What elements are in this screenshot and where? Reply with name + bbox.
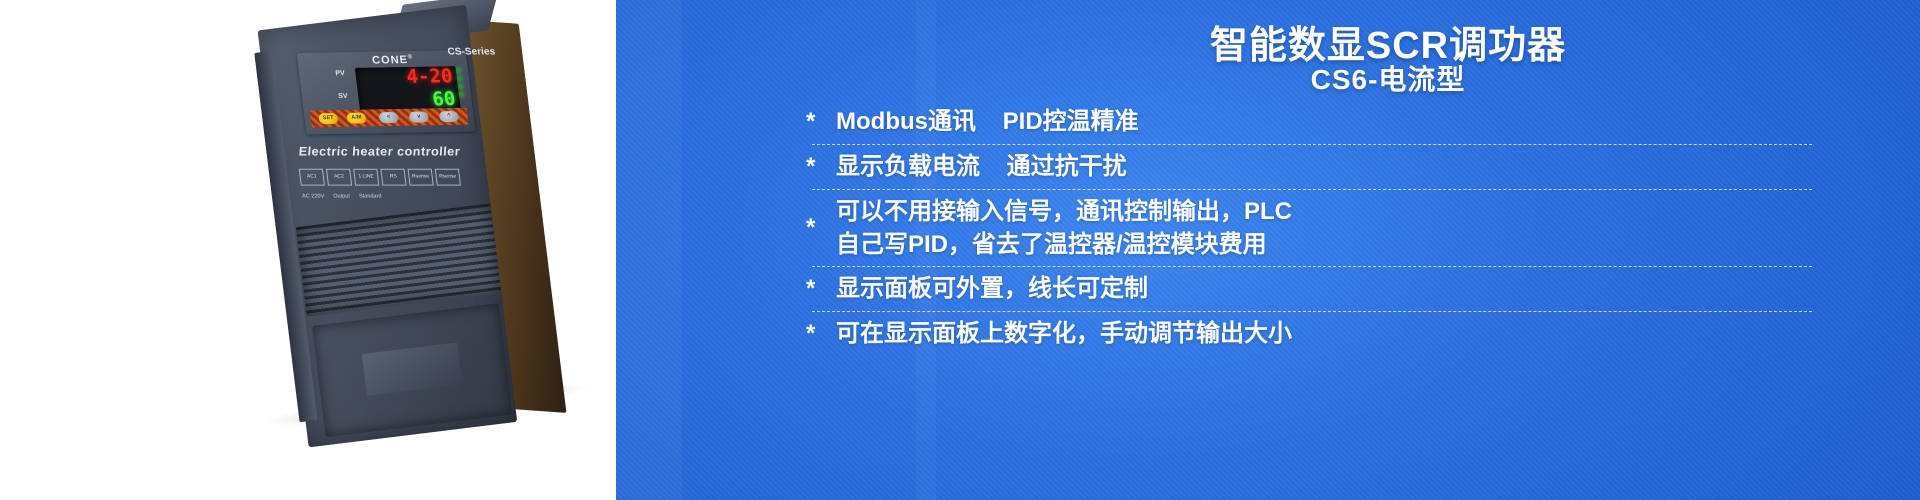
feature-text-line-2: 自己写PID，省去了温控器/温控模块费用 (836, 231, 1267, 258)
feature-item-3: * 可以不用接输入信号，通讯控制输出，PLC自己写PID，省去了温控器/温控模块… (802, 190, 1832, 266)
terminal: 1 LINE (353, 169, 379, 186)
status-led (458, 84, 464, 89)
terminal: Rsense (408, 169, 434, 186)
product-photo-pane: CONE® PV SV 4-20 60 (0, 0, 616, 500)
feature-text: 可在显示面板上数字化，手动调节输出大小 (836, 317, 1292, 350)
registered-mark: ® (407, 54, 413, 60)
terminal: Rsense (435, 169, 461, 186)
model-silkscreen: Electric heater controller (298, 145, 461, 159)
up-key[interactable]: ^ (439, 111, 459, 122)
down-key[interactable]: v (409, 111, 429, 122)
display-module: CONE® PV SV 4-20 60 (297, 50, 476, 134)
pv-value: 4-20 (405, 66, 454, 88)
terminal: AC1 (299, 169, 325, 186)
status-led (459, 92, 465, 97)
pv-label: PV (335, 70, 345, 77)
terminal-block: AC1 AC2 1 LINE RS Rsense Rsense (299, 169, 461, 186)
bullet-star-icon: * (806, 110, 815, 134)
product-banner: CONE® PV SV 4-20 60 (0, 0, 1920, 500)
feature-text: Modbus通讯 PID控温精准 (836, 105, 1139, 138)
set-key[interactable]: SET (318, 113, 338, 124)
brand-logo: CONE® (371, 54, 414, 67)
keypad-strip: SET A/M < v ^ (310, 108, 469, 128)
pv-row: 4-20 (355, 67, 458, 90)
left-key[interactable]: < (378, 112, 398, 123)
feature-item-1: * Modbus通讯 PID控温精准 (802, 100, 1832, 144)
bullet-star-icon: * (806, 155, 815, 179)
sv-label: SV (338, 93, 348, 100)
terminal-label-row: AC 220V Output Standard (302, 193, 382, 199)
brand-name: CONE (371, 54, 408, 67)
bullet-star-icon: * (806, 277, 815, 301)
feature-text: 可以不用接输入信号，通讯控制输出，PLC自己写PID，省去了温控器/温控模块费用 (836, 195, 1292, 261)
terminal-label: Standard (359, 193, 382, 199)
feature-item-2: * 显示负载电流 通过抗干扰 (802, 145, 1832, 189)
bullet-star-icon: * (806, 322, 815, 346)
page-subtitle: CS6-电流型 (616, 58, 1920, 98)
feature-list: * Modbus通讯 PID控温精准 * 显示负载电流 通过抗干扰 * 可以不用… (802, 100, 1832, 356)
feature-text: 显示负载电流 通过抗干扰 (836, 150, 1127, 183)
feature-text: 显示面板可外置，线长可定制 (836, 272, 1148, 305)
lower-housing (312, 303, 512, 437)
lcd-screen: 4-20 60 (355, 66, 461, 113)
bullet-star-icon: * (806, 216, 815, 240)
series-silkscreen: CS-Series (447, 47, 496, 58)
terminal: AC2 (326, 169, 352, 186)
heatsink-vents (296, 203, 502, 316)
status-led (457, 76, 463, 81)
terminal: RS (380, 169, 406, 186)
terminal-label: Output (333, 193, 350, 199)
status-led (456, 68, 462, 73)
scr-power-regulator-image: CONE® PV SV 4-20 60 (248, 0, 616, 449)
feature-item-5: * 可在显示面板上数字化，手动调节输出大小 (802, 312, 1832, 356)
feature-text-line-1: 可以不用接输入信号，通讯控制输出，PLC (836, 198, 1292, 225)
auto-manual-key[interactable]: A/M (346, 113, 366, 124)
marketing-copy-pane: 智能数显SCR调功器 CS6-电流型 * Modbus通讯 PID控温精准 * … (616, 0, 1920, 500)
feature-item-4: * 显示面板可外置，线长可定制 (802, 267, 1832, 311)
terminal-label: AC 220V (302, 193, 325, 199)
